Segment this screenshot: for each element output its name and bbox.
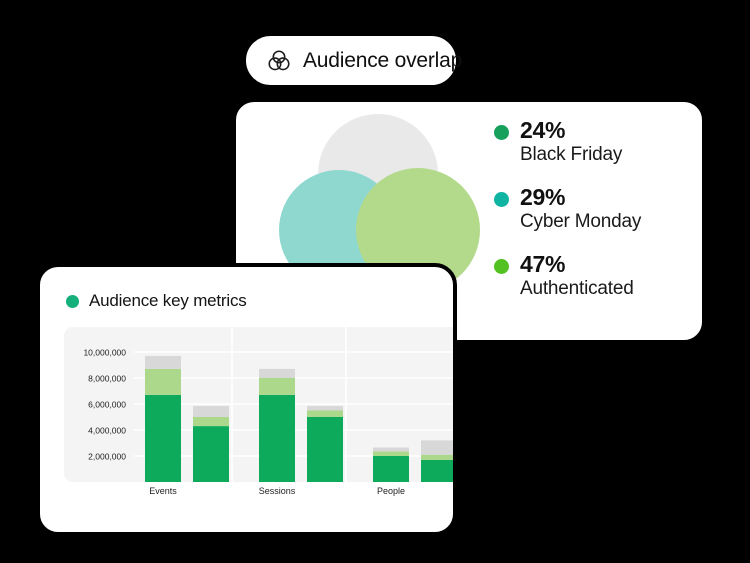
chart-y-tick-label: 6,000,000 <box>88 400 126 410</box>
legend-item-cyber-monday: 29% Cyber Monday <box>494 185 702 232</box>
bar-segment-people-2-secondary[interactable] <box>421 455 457 460</box>
bar-segment-people-2-primary[interactable] <box>421 460 457 482</box>
overlap-legend: 24% Black Friday 29% Cyber Monday 47% Au… <box>494 118 702 299</box>
bar-segment-events-2-primary[interactable] <box>193 426 229 482</box>
bar-segment-sessions-1-tertiary[interactable] <box>259 369 295 378</box>
legend-item-authenticated: 47% Authenticated <box>494 252 702 299</box>
x-axis-label-people: People <box>377 486 405 496</box>
bar-segment-people-2-tertiary[interactable] <box>421 440 457 454</box>
legend-percent-cyber-monday: 29% <box>520 185 641 211</box>
legend-dot-cyber-monday <box>494 192 509 207</box>
bar-segment-events-1-tertiary[interactable] <box>145 356 181 369</box>
audience-overlap-pill[interactable]: Audience overlap <box>243 33 459 88</box>
metrics-card-title: Audience key metrics <box>89 291 247 311</box>
bar-segment-people-1-primary[interactable] <box>373 456 409 482</box>
bar-chart-x-axis: EventsSessionsPeople <box>64 486 457 506</box>
legend-dot-black-friday <box>494 125 509 140</box>
bar-segment-sessions-1-primary[interactable] <box>259 395 295 482</box>
bar-chart-plot-area: 2,000,0004,000,0006,000,0008,000,00010,0… <box>64 327 457 482</box>
venn-three-circles-icon <box>266 48 292 74</box>
legend-percent-authenticated: 47% <box>520 252 634 278</box>
chart-y-tick-label: 10,000,000 <box>83 348 126 358</box>
bar-segment-people-1-tertiary[interactable] <box>373 448 409 452</box>
legend-label-authenticated: Authenticated <box>520 278 634 299</box>
chart-y-tick-label: 2,000,000 <box>88 452 126 462</box>
metrics-card-header: Audience key metrics <box>66 291 247 311</box>
bar-segment-sessions-2-tertiary[interactable] <box>307 406 343 411</box>
audience-overlap-pill-label: Audience overlap <box>303 49 462 73</box>
chart-y-tick-label: 4,000,000 <box>88 426 126 436</box>
bar-segment-people-1-secondary[interactable] <box>373 451 409 456</box>
bar-segment-events-1-secondary[interactable] <box>145 369 181 395</box>
bar-segment-events-2-tertiary[interactable] <box>193 406 229 417</box>
x-axis-label-sessions: Sessions <box>259 486 296 496</box>
chart-y-tick-label: 8,000,000 <box>88 374 126 384</box>
screenshot-stage: Audience overlap 24% Black Friday <box>0 0 750 563</box>
legend-percent-black-friday: 24% <box>520 118 622 144</box>
metrics-header-dot <box>66 295 79 308</box>
audience-key-metrics-card: Audience key metrics 2,000,0004,000,0006… <box>36 263 457 536</box>
bar-chart-svg: 2,000,0004,000,0006,000,0008,000,00010,0… <box>64 327 457 482</box>
legend-item-black-friday: 24% Black Friday <box>494 118 702 165</box>
bar-segment-sessions-2-primary[interactable] <box>307 417 343 482</box>
legend-label-cyber-monday: Cyber Monday <box>520 211 641 232</box>
legend-label-black-friday: Black Friday <box>520 144 622 165</box>
x-axis-label-events: Events <box>149 486 177 496</box>
bar-segment-sessions-2-secondary[interactable] <box>307 411 343 418</box>
bar-segment-events-1-primary[interactable] <box>145 395 181 482</box>
bar-segment-sessions-1-secondary[interactable] <box>259 378 295 395</box>
bar-segment-events-2-secondary[interactable] <box>193 417 229 426</box>
legend-dot-authenticated <box>494 259 509 274</box>
